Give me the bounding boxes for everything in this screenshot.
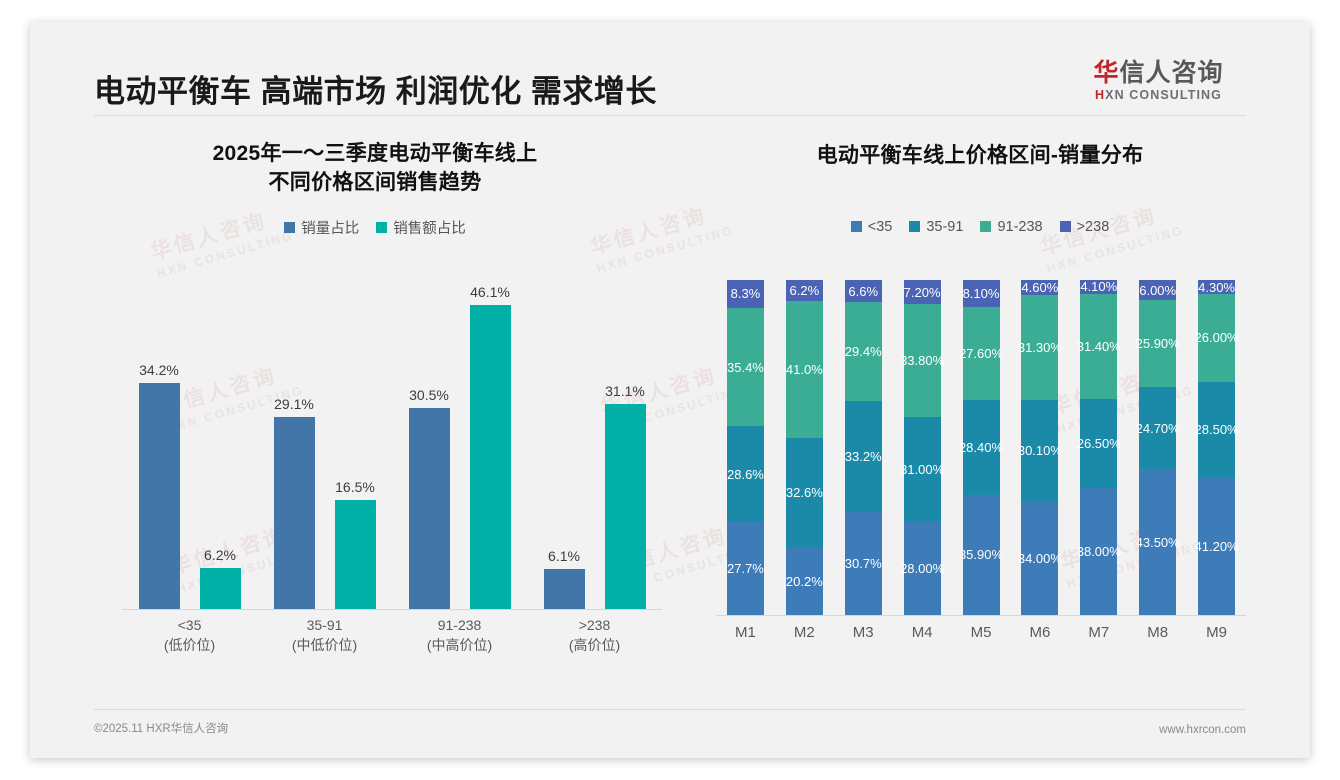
legend-swatch-icon	[980, 221, 991, 232]
x-axis-tick: >238(高价位)	[527, 610, 662, 652]
stacked-bar-segment[interactable]: 27.7%	[727, 522, 764, 615]
bar-value-label: 31.1%	[605, 383, 645, 399]
bar-group: 30.5%46.1%	[392, 280, 527, 609]
left-chart-title-line-2: 不同价格区间销售趋势	[70, 169, 680, 198]
bar-value-label: 6.2%	[204, 547, 236, 563]
segment-value-label: 30.7%	[845, 556, 882, 571]
grouped-bar-x-axis: <35(低价位)35-91(中低价位)91-238(中高价位)>238(高价位)	[122, 610, 662, 652]
segment-value-label: 35.4%	[727, 360, 764, 375]
logo-en-rest: XN CONSULTING	[1105, 88, 1222, 102]
stacked-bar-segment[interactable]: 24.70%	[1139, 387, 1176, 470]
segment-value-label: 25.90%	[1136, 336, 1180, 351]
stacked-bar-segment[interactable]: 4.10%	[1080, 280, 1117, 294]
x-axis-tick-label: M7	[1069, 616, 1128, 652]
stacked-bar-segment[interactable]: 4.30%	[1198, 280, 1235, 294]
stacked-bar[interactable]: 8.3%35.4%28.6%27.7%	[727, 280, 764, 615]
bar-value-label: 16.5%	[335, 479, 375, 495]
legend-item-label: <35	[868, 219, 893, 235]
segment-value-label: 4.10%	[1080, 279, 1117, 294]
stacked-bar[interactable]: 7.20%33.80%31.00%28.00%	[904, 280, 941, 615]
logo-en-accent-char: H	[1095, 88, 1105, 102]
left-chart-legend: 销量占比销售额占比	[70, 217, 680, 238]
segment-value-label: 31.00%	[900, 462, 944, 477]
bar[interactable]	[274, 417, 315, 609]
stacked-bar-segment[interactable]: 28.40%	[963, 400, 1000, 495]
stacked-bar-segment[interactable]: 6.6%	[845, 280, 882, 302]
footer-copyright: ©2025.11 HXR华信人咨询	[94, 720, 228, 736]
grouped-bar-groups: 34.2%6.2%29.1%16.5%30.5%46.1%6.1%31.1%	[122, 280, 662, 609]
stacked-bar-x-axis: M1M2M3M4M5M6M7M8M9	[716, 616, 1246, 652]
stacked-bar-segment[interactable]: 38.00%	[1080, 488, 1117, 615]
bar-wrapper: 6.1%	[544, 569, 585, 609]
left-chart-panel: 2025年一～三季度电动平衡车线上 不同价格区间销售趋势 销量占比销售额占比 3…	[70, 140, 680, 700]
x-axis-tick-label: M4	[893, 616, 952, 652]
stacked-bar-segment[interactable]: 20.2%	[786, 547, 823, 615]
bar-wrapper: 31.1%	[605, 404, 646, 609]
stacked-bar[interactable]: 6.2%41.0%32.6%20.2%	[786, 280, 823, 615]
stacked-bar-segment[interactable]: 25.90%	[1139, 300, 1176, 387]
segment-value-label: 6.00%	[1139, 283, 1176, 298]
stacked-bar-column: 6.2%41.0%32.6%20.2%	[775, 280, 834, 615]
stacked-bar-segment[interactable]: 28.00%	[904, 521, 941, 615]
segment-value-label: 6.6%	[848, 284, 878, 299]
segment-value-label: 4.30%	[1198, 280, 1235, 295]
segment-value-label: 33.2%	[845, 449, 882, 464]
right-chart-legend: <3535-9191-238>238	[680, 219, 1280, 235]
stacked-bar-segment[interactable]: 32.6%	[786, 438, 823, 547]
stacked-bar-column: 8.3%35.4%28.6%27.7%	[716, 280, 775, 615]
logo-accent-char: 华	[1093, 59, 1119, 87]
bar-value-label: 30.5%	[409, 387, 449, 403]
stacked-bar-segment[interactable]: 4.60%	[1021, 280, 1058, 295]
x-axis-tick-label: M3	[834, 616, 893, 652]
header-divider	[94, 115, 1246, 116]
left-chart-title-line-1: 2025年一～三季度电动平衡车线上	[70, 140, 680, 169]
bar-group: 34.2%6.2%	[122, 280, 257, 609]
stacked-bar-segment[interactable]: 6.2%	[786, 280, 823, 301]
segment-value-label: 8.10%	[963, 286, 1000, 301]
x-axis-tick-label: M9	[1187, 616, 1246, 652]
bar[interactable]	[544, 569, 585, 609]
legend-swatch-icon	[909, 221, 920, 232]
slide-header: 电动平衡车 高端市场 利润优化 需求增长 华信人咨询 HXN CONSULTIN…	[30, 22, 1310, 118]
legend-item-label: 35-91	[926, 219, 963, 235]
stacked-bar-segment[interactable]: 31.00%	[904, 417, 941, 521]
bar-value-label: 34.2%	[139, 362, 179, 378]
legend-swatch-icon	[284, 222, 295, 233]
grouped-bar-plot-area: 34.2%6.2%29.1%16.5%30.5%46.1%6.1%31.1%	[122, 280, 662, 610]
bar-value-label: 46.1%	[470, 284, 510, 300]
slide: 电动平衡车 高端市场 利润优化 需求增长 华信人咨询 HXN CONSULTIN…	[30, 22, 1310, 758]
right-chart-panel: 电动平衡车线上价格区间-销量分布 <3535-9191-238>238 8.3%…	[680, 140, 1280, 700]
stacked-bar-segment[interactable]: 28.6%	[727, 426, 764, 522]
x-axis-tick-label: M5	[952, 616, 1011, 652]
stacked-bar-segment[interactable]: 30.10%	[1021, 400, 1058, 501]
bar-wrapper: 46.1%	[470, 305, 511, 609]
x-axis-tick-label: M1	[716, 616, 775, 652]
segment-value-label: 26.50%	[1077, 436, 1121, 451]
segment-value-label: 4.60%	[1021, 280, 1058, 295]
stacked-bar-segment[interactable]: 8.3%	[727, 280, 764, 308]
segment-value-label: 27.60%	[959, 346, 1003, 361]
x-axis-tick-label: >238	[527, 615, 662, 635]
stacked-bar-segment[interactable]: 31.30%	[1021, 295, 1058, 400]
bar-group: 29.1%16.5%	[257, 280, 392, 609]
x-axis-tick-sublabel: (高价位)	[527, 635, 662, 655]
right-chart-title: 电动平衡车线上价格区间-销量分布	[680, 142, 1280, 171]
footer-website: www.hxrcon.com	[1159, 724, 1246, 736]
bar[interactable]	[200, 568, 241, 609]
legend-swatch-icon	[1060, 221, 1071, 232]
stacked-bar-column: 7.20%33.80%31.00%28.00%	[893, 280, 952, 615]
segment-value-label: 24.70%	[1136, 421, 1180, 436]
stacked-bar-segment[interactable]: 7.20%	[904, 280, 941, 304]
stacked-bar-column: 4.10%31.40%26.50%38.00%	[1069, 280, 1128, 615]
stacked-bar-segment[interactable]: 33.80%	[904, 304, 941, 417]
stacked-bar-segment[interactable]: 29.4%	[845, 302, 882, 401]
stacked-bar[interactable]: 4.30%26.00%28.50%41.20%	[1198, 280, 1235, 615]
stacked-bar-segment[interactable]: 35.90%	[963, 495, 1000, 615]
bar[interactable]	[409, 408, 450, 609]
bar-value-label: 6.1%	[548, 548, 580, 564]
legend-item-label: >238	[1077, 219, 1110, 235]
stacked-bar[interactable]: 4.10%31.40%26.50%38.00%	[1080, 280, 1117, 615]
stacked-bar-column: 4.30%26.00%28.50%41.20%	[1187, 280, 1246, 615]
x-axis-tick-label: <35	[122, 615, 257, 635]
brand-logo: 华信人咨询 HXN CONSULTING	[1071, 60, 1246, 102]
segment-value-label: 41.0%	[786, 362, 823, 377]
stacked-bar[interactable]: 8.10%27.60%28.40%35.90%	[963, 280, 1000, 615]
x-axis-tick-label: M8	[1128, 616, 1187, 652]
stacked-bar-segment[interactable]: 26.50%	[1080, 399, 1117, 488]
stacked-bar-segment[interactable]: 35.4%	[727, 308, 764, 427]
bar[interactable]	[139, 383, 180, 609]
x-axis-tick: <35(低价位)	[122, 610, 257, 652]
segment-value-label: 29.4%	[845, 344, 882, 359]
page-title: 电动平衡车 高端市场 利润优化 需求增长	[94, 66, 657, 111]
segment-value-label: 8.3%	[731, 286, 761, 301]
legend-item[interactable]: 91-238	[980, 219, 1042, 235]
stacked-bar-column: 6.6%29.4%33.2%30.7%	[834, 280, 893, 615]
stacked-bar-segment[interactable]: 31.40%	[1080, 294, 1117, 399]
segment-value-label: 41.20%	[1195, 539, 1239, 554]
x-axis-tick-sublabel: (中低价位)	[257, 635, 392, 655]
footer-divider	[94, 709, 1246, 710]
stacked-bar-segment[interactable]: 34.00%	[1021, 501, 1058, 615]
x-axis-tick-label: 35-91	[257, 615, 392, 635]
stacked-bar-segment[interactable]: 28.50%	[1198, 382, 1235, 477]
legend-item-label: 销售额占比	[393, 217, 466, 238]
bar-wrapper: 16.5%	[335, 500, 376, 609]
stacked-bar-plot-area: 8.3%35.4%28.6%27.7%6.2%41.0%32.6%20.2%6.…	[716, 280, 1246, 616]
segment-value-label: 38.00%	[1077, 544, 1121, 559]
legend-swatch-icon	[851, 221, 862, 232]
bar[interactable]	[470, 305, 511, 609]
segment-value-label: 43.50%	[1136, 535, 1180, 550]
legend-item[interactable]: 销售额占比	[376, 217, 466, 238]
stacked-bar[interactable]: 4.60%31.30%30.10%34.00%	[1021, 280, 1058, 615]
bar-wrapper: 29.1%	[274, 417, 315, 609]
logo-chinese-text: 华信人咨询	[1071, 60, 1246, 86]
bar-value-label: 29.1%	[274, 396, 314, 412]
segment-value-label: 6.2%	[790, 283, 820, 298]
stacked-bar-column: 8.10%27.60%28.40%35.90%	[952, 280, 1011, 615]
segment-value-label: 28.50%	[1195, 422, 1239, 437]
segment-value-label: 33.80%	[900, 353, 944, 368]
stacked-bar-column: 4.60%31.30%30.10%34.00%	[1010, 280, 1069, 615]
x-axis-tick: 35-91(中低价位)	[257, 610, 392, 652]
stacked-bar[interactable]: 6.00%25.90%24.70%43.50%	[1139, 280, 1176, 615]
legend-item[interactable]: 销量占比	[284, 217, 359, 238]
logo-english-text: HXN CONSULTING	[1071, 88, 1246, 102]
x-axis-tick-sublabel: (中高价位)	[392, 635, 527, 655]
legend-item[interactable]: 35-91	[909, 219, 963, 235]
stacked-bar-segment[interactable]: 27.60%	[963, 307, 1000, 399]
left-chart-title: 2025年一～三季度电动平衡车线上 不同价格区间销售趋势	[70, 140, 680, 197]
stacked-bar-chart: 8.3%35.4%28.6%27.7%6.2%41.0%32.6%20.2%6.…	[716, 280, 1246, 652]
legend-item[interactable]: <35	[851, 219, 893, 235]
segment-value-label: 30.10%	[1018, 443, 1062, 458]
segment-value-label: 28.6%	[727, 467, 764, 482]
segment-value-label: 34.00%	[1018, 551, 1062, 566]
stacked-bar-segment[interactable]: 8.10%	[963, 280, 1000, 307]
segment-value-label: 28.40%	[959, 440, 1003, 455]
segment-value-label: 7.20%	[904, 285, 941, 300]
segment-value-label: 27.7%	[727, 561, 764, 576]
x-axis-tick-label: 91-238	[392, 615, 527, 635]
bar-group: 6.1%31.1%	[527, 280, 662, 609]
x-axis-tick: 91-238(中高价位)	[392, 610, 527, 652]
stacked-bar[interactable]: 6.6%29.4%33.2%30.7%	[845, 280, 882, 615]
bar-wrapper: 34.2%	[139, 383, 180, 609]
x-axis-tick-sublabel: (低价位)	[122, 635, 257, 655]
bar[interactable]	[605, 404, 646, 609]
bar-wrapper: 6.2%	[200, 568, 241, 609]
stacked-bar-segment[interactable]: 33.2%	[845, 401, 882, 512]
stacked-bar-column: 6.00%25.90%24.70%43.50%	[1128, 280, 1187, 615]
segment-value-label: 20.2%	[786, 574, 823, 589]
stacked-bar-segment[interactable]: 41.0%	[786, 301, 823, 438]
grouped-bar-chart: 34.2%6.2%29.1%16.5%30.5%46.1%6.1%31.1% <…	[122, 280, 662, 652]
stacked-bar-segment[interactable]: 26.00%	[1198, 294, 1235, 381]
bar[interactable]	[335, 500, 376, 609]
segment-value-label: 35.90%	[959, 547, 1003, 562]
segment-value-label: 31.40%	[1077, 339, 1121, 354]
segment-value-label: 28.00%	[900, 561, 944, 576]
segment-value-label: 26.00%	[1195, 330, 1239, 345]
stacked-bar-segment[interactable]: 43.50%	[1139, 469, 1176, 615]
segment-value-label: 31.30%	[1018, 340, 1062, 355]
legend-item[interactable]: >238	[1060, 219, 1110, 235]
stacked-bar-segment[interactable]: 41.20%	[1198, 477, 1235, 615]
x-axis-tick-label: M6	[1010, 616, 1069, 652]
bar-wrapper: 30.5%	[409, 408, 450, 609]
x-axis-tick-label: M2	[775, 616, 834, 652]
legend-swatch-icon	[376, 222, 387, 233]
legend-item-label: 91-238	[997, 219, 1042, 235]
segment-value-label: 32.6%	[786, 485, 823, 500]
logo-chinese-rest: 信人咨询	[1120, 59, 1224, 87]
legend-item-label: 销量占比	[301, 217, 359, 238]
stacked-bar-segment[interactable]: 6.00%	[1139, 280, 1176, 300]
stacked-bar-segment[interactable]: 30.7%	[845, 512, 882, 615]
